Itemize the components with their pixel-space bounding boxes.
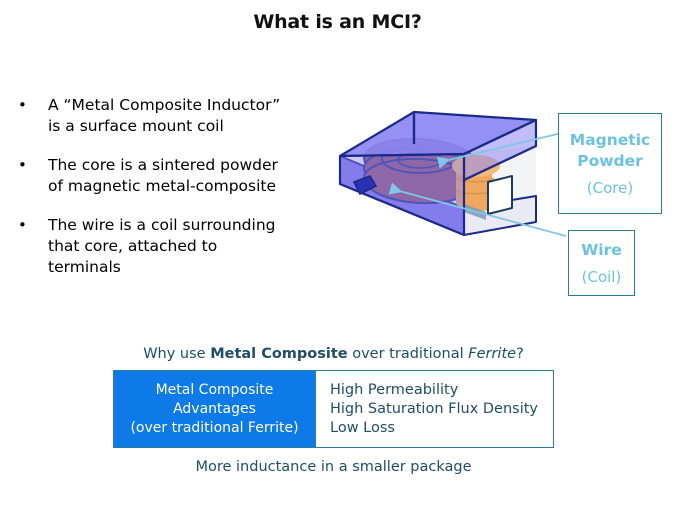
cutaway-notch bbox=[488, 176, 512, 214]
bullet-marker-icon: • bbox=[14, 215, 48, 236]
benefit-item: High Saturation Flux Density bbox=[330, 400, 553, 419]
slide-canvas: What is an MCI? • A “Metal Composite Ind… bbox=[0, 0, 675, 506]
question-part-1: Why use bbox=[143, 346, 210, 362]
advantages-cell: Metal Composite Advantages (over traditi… bbox=[114, 371, 315, 447]
benefits-cell: High Permeability High Saturation Flux D… bbox=[315, 371, 553, 447]
question-bold: Metal Composite bbox=[210, 346, 347, 362]
callout-wire: Wire (Coil) bbox=[568, 230, 635, 296]
bullet-text: The core is a sintered powder of magneti… bbox=[48, 155, 334, 197]
bullet-list: • A “Metal Composite Inductor” is a surf… bbox=[14, 95, 334, 296]
benefit-item: High Permeability bbox=[330, 381, 553, 400]
callout-title: Wire bbox=[581, 240, 622, 261]
advantages-line-1: Metal Composite bbox=[156, 381, 274, 400]
benefit-item: Low Loss bbox=[330, 419, 553, 438]
question-part-2: over traditional bbox=[348, 346, 469, 362]
callout-magnetic-powder: Magnetic Powder (Core) bbox=[558, 113, 662, 214]
page-title: What is an MCI? bbox=[0, 11, 675, 33]
comparison-block: Why use Metal Composite over traditional… bbox=[113, 344, 554, 477]
advantages-line-3: (over traditional Ferrite) bbox=[130, 419, 298, 438]
list-item: • A “Metal Composite Inductor” is a surf… bbox=[14, 95, 334, 137]
comparison-footer: More inductance in a smaller package bbox=[113, 457, 554, 477]
callout-subtitle: (Core) bbox=[587, 178, 633, 198]
list-item: • The core is a sintered powder of magne… bbox=[14, 155, 334, 197]
bullet-marker-icon: • bbox=[14, 95, 48, 116]
callout-title: Magnetic Powder bbox=[559, 130, 661, 172]
list-item: • The wire is a coil surrounding that co… bbox=[14, 215, 334, 278]
bullet-marker-icon: • bbox=[14, 155, 48, 176]
bullet-text: A “Metal Composite Inductor” is a surfac… bbox=[48, 95, 334, 137]
advantages-line-2: Advantages bbox=[173, 400, 256, 419]
comparison-question: Why use Metal Composite over traditional… bbox=[113, 344, 554, 364]
question-italic: Ferrite bbox=[468, 346, 516, 362]
callout-subtitle: (Coil) bbox=[582, 267, 622, 287]
comparison-table: Metal Composite Advantages (over traditi… bbox=[113, 370, 554, 448]
bullet-text: The wire is a coil surrounding that core… bbox=[48, 215, 334, 278]
inductor-diagram bbox=[336, 104, 566, 254]
question-part-3: ? bbox=[516, 346, 524, 362]
